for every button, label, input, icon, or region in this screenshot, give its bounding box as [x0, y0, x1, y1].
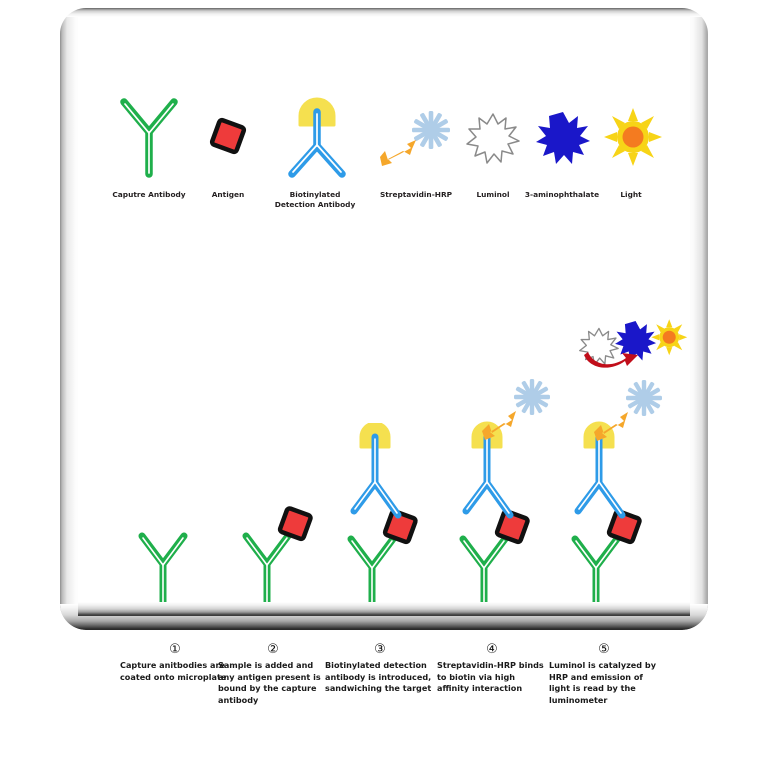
antigen-red-square-icon [202, 112, 254, 169]
step-text-1: Capture anitbodies are coated onto micro… [120, 660, 230, 683]
step-caption-3: ③ Biotinylated detection antibody is int… [325, 642, 435, 695]
step-number-4: ④ [437, 642, 547, 657]
step-text-3: Biotinylated detection antibody is intro… [325, 660, 435, 695]
step-caption-5: ⑤ Luminol is catalyzed by HRP and emissi… [549, 642, 659, 706]
assay-step-3-graphic [330, 423, 440, 623]
aminophthalate-icon [532, 108, 594, 175]
step-text-2: Sample is added and any antigen present … [218, 660, 328, 706]
step-text-5: Luminol is catalyzed by HRP and emission… [549, 660, 659, 706]
step-number-5: ⑤ [549, 642, 659, 657]
light-sun-icon [602, 106, 664, 173]
step-caption-4: ④ Streptavidin-HRP binds to biotin via h… [437, 642, 547, 695]
step-number-1: ① [120, 642, 230, 657]
step-number-2: ② [218, 642, 328, 657]
luminol-icon [462, 108, 524, 175]
microplate-surface [78, 602, 690, 616]
step-number-3: ③ [325, 642, 435, 657]
streptavidin-hrp-icon [376, 110, 460, 185]
plate-top-rim [60, 8, 708, 17]
step-caption-2: ② Sample is added and any antigen presen… [218, 642, 328, 706]
step-caption-1: ① Capture anitbodies are coated onto mic… [120, 642, 230, 683]
legend-item-light: Light [602, 94, 660, 214]
legend-label-light: Light [556, 190, 706, 200]
assay-step-4-graphic [442, 375, 562, 623]
assay-step-5-graphic [554, 310, 704, 625]
antibody-green-icon [99, 94, 199, 189]
step-text-4: Streptavidin-HRP binds to biotin via hig… [437, 660, 547, 695]
antibody-blue-biotin-icon [272, 94, 362, 189]
